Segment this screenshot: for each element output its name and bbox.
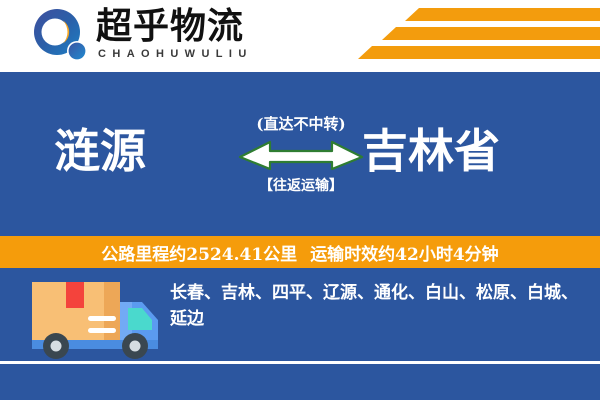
distance-text: 公路里程约2524.41公里 <box>101 245 297 265</box>
coverage-panel: 长春、吉林、四平、辽源、通化、白山、松原、白城、延边 <box>0 268 600 400</box>
roundtrip-label: 【往返运输】 <box>236 176 366 196</box>
info-bar-text: 公路里程约2524.41公里运输时效约42小时4分钟 <box>101 240 498 265</box>
stripe-1 <box>405 8 600 21</box>
coverage-cities-list: 长春、吉林、四平、辽源、通化、白山、松原、白城、延边 <box>170 280 580 332</box>
destination-city: 吉林省 <box>362 122 500 180</box>
route-panel: 涟源 (直达不中转) 【往返运输】 吉林省 <box>0 72 600 236</box>
brand-name-cn: 超乎物流 <box>96 5 244 47</box>
stripe-3 <box>358 46 600 59</box>
stripe-2 <box>382 27 600 40</box>
decorative-stripes <box>345 8 600 66</box>
direct-shipping-label: (直达不中转) <box>236 114 366 134</box>
q-circle-logo-icon <box>33 8 89 64</box>
road-line-icon <box>0 361 600 364</box>
delivery-truck-icon <box>22 278 162 364</box>
duration-text: 运输时效约42小时4分钟 <box>310 245 499 265</box>
info-bar: 公路里程约2524.41公里运输时效约42小时4分钟 <box>0 236 600 268</box>
banner-header: 超乎物流 CHAOHUWULIU <box>0 0 600 72</box>
logistics-route-banner: 超乎物流 CHAOHUWULIU 涟源 (直达不中转) 【往返运输】 吉林省 公… <box>0 0 600 400</box>
double-arrow-icon <box>236 138 366 172</box>
brand-name-en: CHAOHUWULIU <box>98 48 253 60</box>
route-middle-block: (直达不中转) 【往返运输】 <box>236 114 366 196</box>
origin-city: 涟源 <box>54 122 146 180</box>
